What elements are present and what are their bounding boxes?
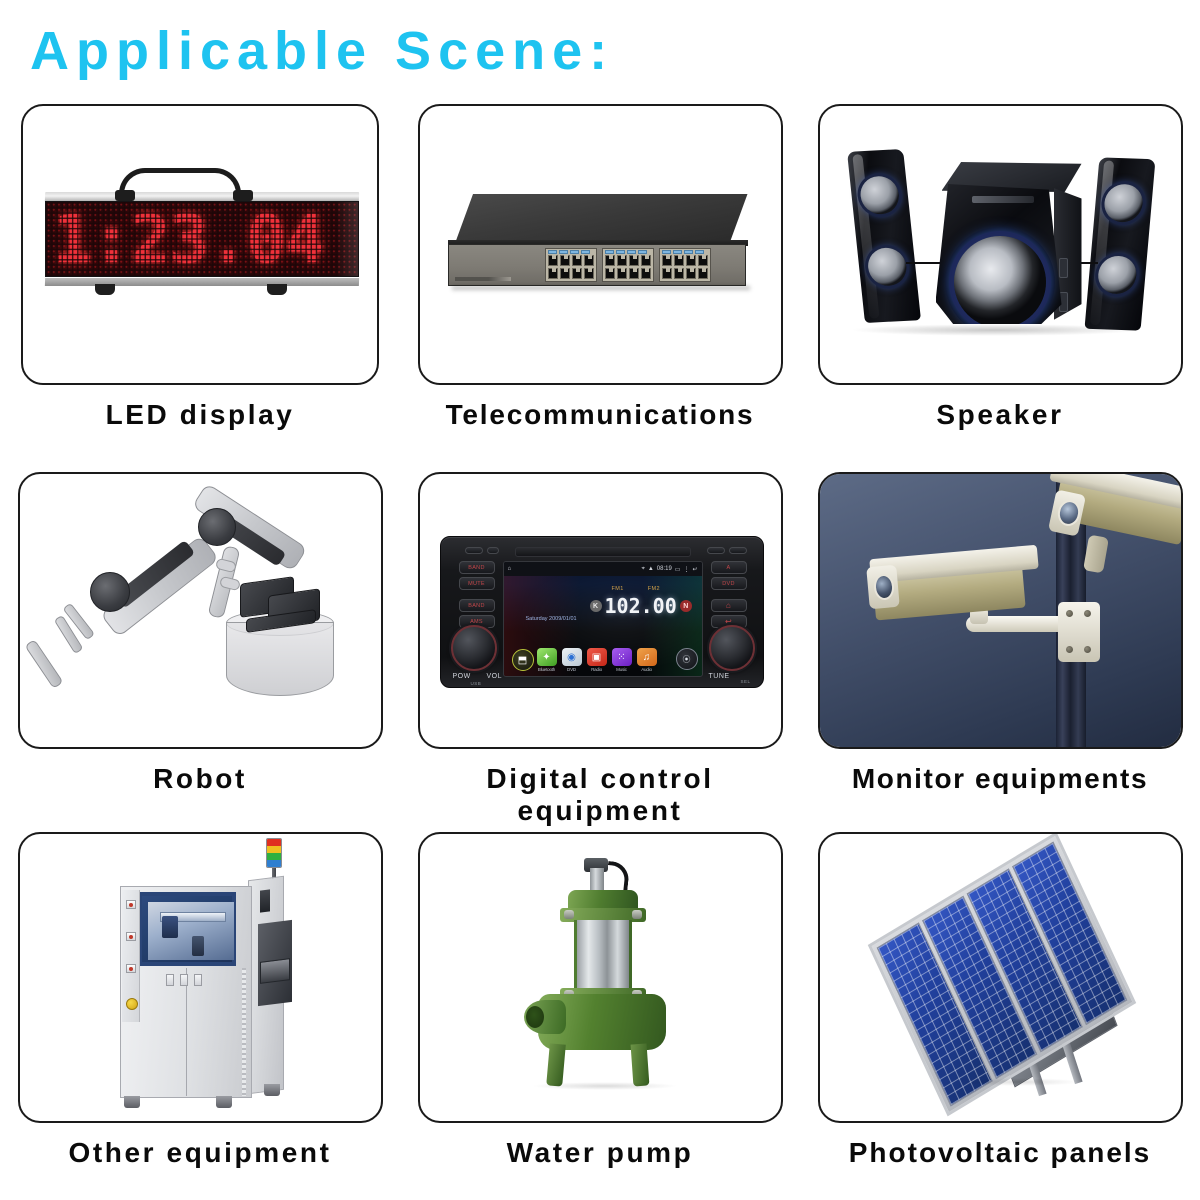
- cabinet-button-row[interactable]: [166, 974, 202, 986]
- port-row: [548, 268, 594, 279]
- switch-faceplate: [448, 244, 746, 286]
- rj45-port: [572, 268, 582, 279]
- status-time: 08:19: [657, 566, 672, 572]
- cctv-illustration: [820, 474, 1181, 747]
- switch-port-groups: [545, 248, 711, 282]
- knob-label-select: SEL: [741, 679, 783, 749]
- network-switch-illustration: [420, 106, 781, 383]
- port-group: [602, 248, 654, 282]
- app-label: DVD: [562, 667, 582, 672]
- equalizer-icon: ♫: [637, 648, 657, 666]
- machine-leveling-foot: [124, 1096, 140, 1108]
- back-icon: ↵: [692, 566, 697, 573]
- pump-motor-housing: [574, 920, 632, 992]
- band-button[interactable]: BAND: [459, 561, 495, 574]
- port-led-strip: [548, 250, 594, 254]
- led-display-illustration: 1:23.04: [23, 106, 377, 383]
- disc-icon: ◉: [562, 648, 582, 666]
- app-shortcut[interactable]: ♫ Audio: [637, 648, 657, 672]
- head-unit-top-button[interactable]: [487, 547, 499, 554]
- rj45-port: [572, 255, 582, 266]
- app-shortcut[interactable]: ◉ DVD: [562, 648, 582, 672]
- port-row: [662, 255, 708, 266]
- led-carry-handle: [119, 168, 241, 194]
- robot-joint-elbow: [198, 508, 236, 546]
- status-bar-right: ⌖ ▲ 08:19 ▭ ⋮ ↵: [641, 566, 697, 573]
- machine-drawer: [260, 958, 290, 984]
- cabinet-door-seam: [186, 968, 187, 1096]
- car-icon: ⬒: [512, 649, 534, 671]
- wifi-icon: ▲: [648, 566, 654, 572]
- subwoofer-control-port: [1059, 258, 1068, 278]
- mute-button[interactable]: MUTE: [459, 577, 495, 590]
- solar-array-illustration: [820, 834, 1181, 1121]
- machine-nozzle: [192, 936, 204, 956]
- page-title: Applicable Scene:: [30, 22, 614, 81]
- satellite-speaker-left: [847, 149, 921, 323]
- tune-select-knob[interactable]: [709, 625, 755, 671]
- switch-top-panel: [456, 194, 748, 242]
- stack-light-red: [267, 839, 281, 846]
- port-group: [659, 248, 711, 282]
- rj45-port: [641, 268, 651, 279]
- scene-cell-telecommunications: Telecommunications: [400, 104, 800, 472]
- a-button[interactable]: A: [711, 561, 747, 574]
- scene-card-grid: 1:23.04 LED display: [0, 104, 1200, 1200]
- rj45-port: [584, 255, 594, 266]
- industrial-machine-illustration: [20, 834, 381, 1121]
- caption-telecommunications: Telecommunications: [446, 399, 755, 431]
- subwoofer-badge: [972, 196, 1034, 203]
- port-group: [545, 248, 597, 282]
- location-icon: ⌖: [641, 566, 644, 573]
- flange-bolt: [632, 910, 642, 919]
- satellite-speaker-right: [1084, 157, 1155, 330]
- scene-cell-water-pump: Water pump: [400, 832, 800, 1200]
- rj45-port: [629, 268, 639, 279]
- machine-switch[interactable]: [126, 900, 136, 909]
- rj45-port: [605, 255, 615, 266]
- machine-leveling-foot: [216, 1096, 232, 1108]
- scene-cell-other-equipment: Other equipment: [0, 832, 400, 1200]
- head-unit-top-button[interactable]: [729, 547, 747, 554]
- applicable-scene-infographic: Applicable Scene: 1:23.04: [0, 0, 1200, 1200]
- machine-switch[interactable]: [126, 932, 136, 941]
- solar-panel-frame: [867, 832, 1135, 1116]
- scene-cell-speaker: Speaker: [800, 104, 1200, 472]
- card-digital-control-equipment[interactable]: BAND MUTE BAND AMS A DVD ⌂ ↩ ⌂: [418, 472, 783, 749]
- app-shortcut[interactable]: ⁙ Music: [612, 648, 632, 672]
- speaker-wire-left: [906, 262, 940, 264]
- card-telecommunications[interactable]: [418, 104, 783, 385]
- battery-icon: ▭: [675, 566, 681, 573]
- port-row: [548, 255, 594, 266]
- bluetooth-icon: ✦: [537, 648, 557, 666]
- rj45-port: [698, 268, 708, 279]
- rj45-port: [560, 268, 570, 279]
- stereo-badge: K: [590, 600, 602, 612]
- rj45-port: [662, 268, 672, 279]
- switch-shadow: [452, 286, 750, 290]
- head-unit-chassis: BAND MUTE BAND AMS A DVD ⌂ ↩ ⌂: [440, 536, 764, 688]
- subwoofer-driver: [954, 236, 1046, 328]
- bracket-bolt: [1084, 610, 1091, 617]
- app-shortcut[interactable]: ⬒: [512, 649, 532, 672]
- knob-label-power: POW: [453, 673, 471, 680]
- music-icon: ⁙: [612, 648, 632, 666]
- scene-cell-robot: Robot: [0, 472, 400, 832]
- rj45-port: [686, 268, 696, 279]
- stack-light-blue: [267, 860, 281, 867]
- rj45-port: [641, 255, 651, 266]
- pole-bracket: [1058, 602, 1100, 662]
- pump-leg: [630, 1043, 649, 1086]
- card-other-equipment[interactable]: [18, 832, 383, 1123]
- speaker-driver: [1102, 184, 1143, 223]
- home-button[interactable]: ⌂: [711, 599, 747, 612]
- led-handle-mount-left: [115, 190, 135, 201]
- solar-array-shadow: [960, 1078, 1080, 1086]
- radio-frequency: 102.00: [605, 596, 677, 616]
- caption-led-display: LED display: [106, 399, 295, 431]
- pump-leg: [546, 1043, 566, 1086]
- app-shortcut[interactable]: ✦ Bluetooth: [537, 648, 557, 672]
- screen-date-text: Saturday 2009/01/01: [526, 616, 577, 622]
- rj45-port: [686, 255, 696, 266]
- speaker-system-illustration: [820, 106, 1181, 383]
- switch-brand-label: [455, 277, 511, 281]
- rj45-port: [617, 268, 627, 279]
- stack-light-green: [267, 853, 281, 860]
- caption-robot: Robot: [153, 763, 247, 795]
- card-water-pump[interactable]: [418, 832, 783, 1123]
- led-bottom-rail: [45, 278, 359, 286]
- screen-band-tags: FM1 FM2: [612, 586, 660, 592]
- card-monitor-equipments[interactable]: [818, 472, 1183, 749]
- cabinet-button[interactable]: [166, 974, 174, 986]
- caption-water-pump: Water pump: [507, 1137, 694, 1169]
- scene-cell-led-display: 1:23.04 LED display: [0, 104, 400, 472]
- water-pump-illustration: [420, 834, 781, 1121]
- led-foot-left: [95, 284, 115, 295]
- app-label: Music: [612, 667, 632, 672]
- home-icon: ⌂: [508, 566, 512, 572]
- app-shortcut[interactable]: ▣ Radio: [587, 648, 607, 672]
- rj45-port: [617, 255, 627, 266]
- car-head-unit-illustration: BAND MUTE BAND AMS A DVD ⌂ ↩ ⌂: [420, 474, 781, 747]
- head-unit-top-button[interactable]: [465, 547, 483, 554]
- cabinet-button[interactable]: [180, 974, 188, 986]
- led-matrix-panel: 1:23.04: [45, 201, 359, 277]
- rj45-port: [548, 268, 558, 279]
- port-row: [662, 268, 708, 279]
- bracket-bolt: [1084, 646, 1091, 653]
- knob-label-volume: VOL: [487, 673, 503, 680]
- machine-display-slot: [260, 889, 270, 912]
- radio-icon: ▣: [587, 648, 607, 666]
- apps-grid-button[interactable]: ⦿: [676, 648, 698, 670]
- rj45-port: [662, 255, 672, 266]
- port-row: [605, 255, 651, 266]
- scene-cell-digital-control: BAND MUTE BAND AMS A DVD ⌂ ↩ ⌂: [400, 472, 800, 832]
- menu-icon: ⋮: [683, 566, 689, 573]
- card-led-display[interactable]: 1:23.04: [21, 104, 379, 385]
- cabinet-button[interactable]: [194, 974, 202, 986]
- stack-light-yellow: [267, 846, 281, 853]
- app-label: Radio: [587, 667, 607, 672]
- cabinet-vent: [242, 968, 246, 1096]
- caption-monitor-equipments: Monitor equipments: [852, 763, 1148, 795]
- scene-cell-photovoltaic-panels: Photovoltaic panels: [800, 832, 1200, 1200]
- usb-label: USB: [471, 681, 619, 749]
- caption-other-equipment: Other equipment: [68, 1137, 331, 1169]
- card-speaker[interactable]: [818, 104, 1183, 385]
- head-unit-screen[interactable]: ⌂ ⌖ ▲ 08:19 ▭ ⋮ ↵: [503, 561, 703, 677]
- card-photovoltaic-panels[interactable]: [818, 832, 1183, 1123]
- caption-digital-control-equipment: Digital control equipment: [486, 763, 713, 828]
- robot-base-cylinder: [226, 622, 334, 696]
- machine-switch[interactable]: [126, 964, 136, 973]
- led-sign-unit: 1:23.04: [45, 192, 359, 286]
- emergency-stop-button[interactable]: [126, 998, 138, 1010]
- card-robot[interactable]: [18, 472, 383, 749]
- screen-app-row: ⬒ ✦ Bluetooth ◉ DVD: [512, 648, 696, 672]
- rj45-port: [560, 255, 570, 266]
- port-row: [605, 268, 651, 279]
- dvd-button[interactable]: DVD: [711, 577, 747, 590]
- camera-neck-upper: [1083, 535, 1109, 574]
- rj45-port: [605, 268, 615, 279]
- speaker-driver: [858, 175, 900, 215]
- solar-panel-group: [867, 832, 1135, 1116]
- scene-cell-monitor-equipments: Monitor equipments: [800, 472, 1200, 832]
- port-led-strip: [662, 250, 708, 254]
- band-tag-left: FM1: [612, 586, 624, 592]
- band-tag-right: FM2: [648, 586, 660, 592]
- rj45-port: [674, 268, 684, 279]
- machine-control-panel[interactable]: [122, 890, 140, 1022]
- pump-shadow: [532, 1082, 678, 1090]
- bracket-bolt: [1066, 610, 1073, 617]
- flange-bolt: [564, 910, 574, 919]
- rj45-port: [674, 255, 684, 266]
- screen-status-bar: ⌂ ⌖ ▲ 08:19 ▭ ⋮ ↵: [504, 562, 702, 576]
- led-display-text: 1:23.04: [53, 205, 353, 275]
- band2-button[interactable]: BAND: [459, 599, 495, 612]
- rj45-port: [629, 255, 639, 266]
- led-handle-mount-right: [233, 190, 253, 201]
- app-label: Bluetooth: [537, 667, 557, 672]
- power-volume-knob[interactable]: [451, 625, 497, 671]
- speaker-driver: [1096, 255, 1137, 294]
- machine-leveling-foot: [264, 1084, 280, 1096]
- subwoofer-front: [936, 184, 1062, 324]
- screen-frequency-row: K 102.00 N: [590, 596, 692, 616]
- signal-badge: N: [680, 600, 692, 612]
- caption-photovoltaic-panels: Photovoltaic panels: [849, 1137, 1152, 1169]
- speaker-driver: [866, 247, 908, 287]
- app-label: Audio: [637, 667, 657, 672]
- pump-discharge-outlet: [524, 1000, 566, 1034]
- machine-print-head: [162, 916, 178, 938]
- rj45-port: [548, 255, 558, 266]
- rj45-port: [584, 268, 594, 279]
- head-unit-top-button[interactable]: [707, 547, 725, 554]
- switch-chassis: [448, 194, 748, 290]
- knob-label-tune: TUNE: [709, 673, 730, 680]
- led-foot-right: [267, 284, 287, 295]
- caption-speaker: Speaker: [936, 399, 1063, 431]
- machine-interior: [148, 902, 234, 960]
- port-led-strip: [605, 250, 651, 254]
- robot-end-effector-rod: [24, 639, 63, 689]
- machine-view-window: [138, 892, 236, 966]
- robot-arm-illustration: [20, 474, 381, 747]
- rj45-port: [698, 255, 708, 266]
- stack-light: [266, 838, 282, 868]
- head-unit-top-slot: [515, 547, 691, 557]
- bracket-bolt: [1066, 646, 1073, 653]
- subwoofer: [936, 162, 1084, 324]
